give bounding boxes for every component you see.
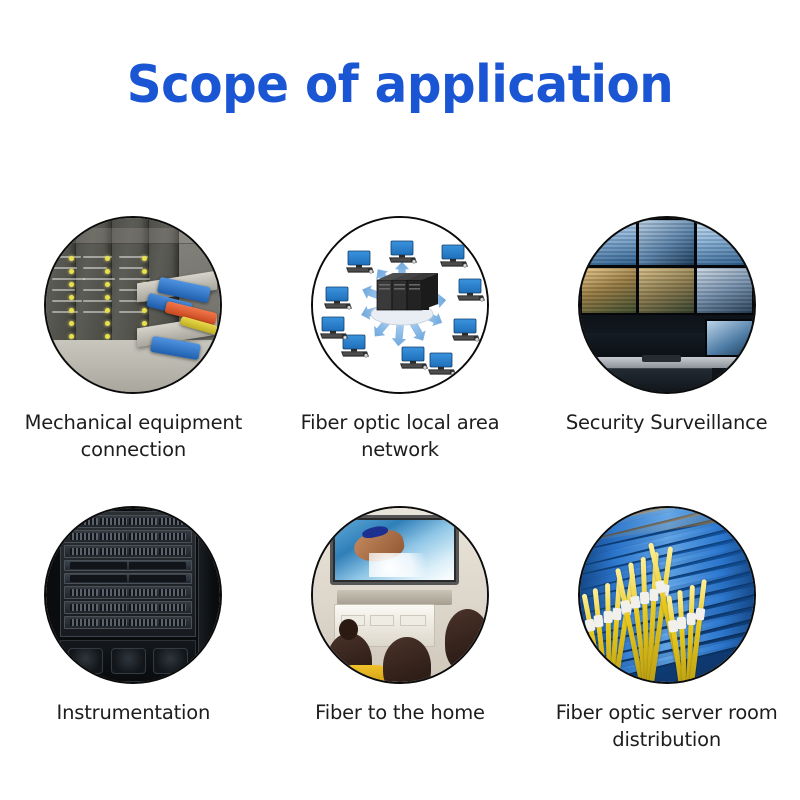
application-item-mechanical-equipment-connection: Mechanical equipment connection (0, 200, 267, 490)
server-cluster-icon (377, 273, 438, 310)
page-title: Scope of application (28, 55, 772, 115)
application-item-caption: Fiber optic local area network (285, 410, 515, 464)
application-item-security-surveillance: Security Surveillance (533, 200, 800, 490)
application-item-fiber-optic-server-room-distribution: Fiber optic server room distribution (533, 490, 800, 780)
application-item-instrumentation: Instrumentation (0, 490, 267, 780)
family-watching-television-photo (311, 506, 489, 684)
network-diagram-svg (313, 218, 489, 394)
application-item-caption: Fiber optic server room distribution (552, 700, 782, 754)
application-grid: Mechanical equipment connection (0, 200, 800, 780)
poster-root: Scope of application (0, 0, 800, 800)
application-item-caption: Mechanical equipment connection (18, 410, 248, 464)
application-item-caption: Fiber to the home (285, 700, 515, 727)
control-room-video-wall-photo (578, 216, 756, 394)
application-item-fiber-optic-local-area-network: Fiber optic local area network (267, 200, 534, 490)
chassis-switch-blades-photo (44, 506, 222, 684)
application-item-caption: Instrumentation (18, 700, 248, 727)
network-star-topology-diagram (311, 216, 489, 394)
rack-with-fiber-connectors-photo (44, 216, 222, 394)
application-item-caption: Security Surveillance (552, 410, 782, 437)
blue-and-yellow-cable-bundle-photo (578, 506, 756, 684)
application-item-fiber-to-the-home: Fiber to the home (267, 490, 534, 780)
